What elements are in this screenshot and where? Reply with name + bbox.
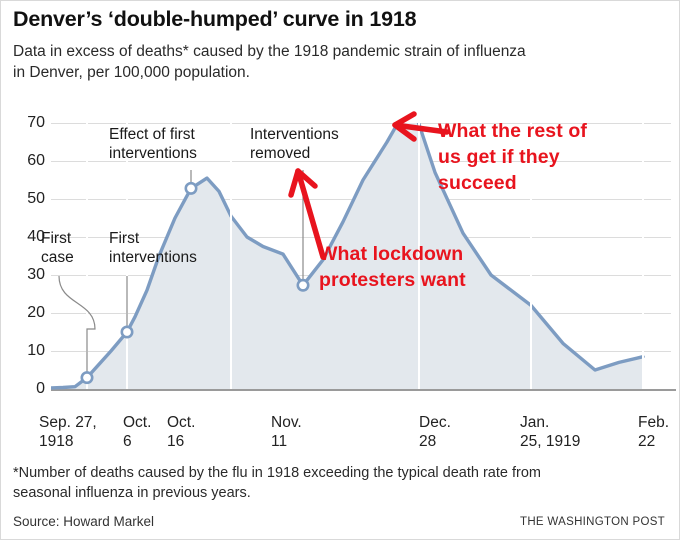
x-tick-label-4: Dec. 28 (419, 413, 467, 451)
data-point-marker (122, 327, 132, 337)
y-tick-20: 20 (11, 305, 45, 321)
y-axis-labels: 70 60 50 40 30 20 10 0 (5, 123, 45, 408)
y-tick-0: 0 (11, 381, 45, 397)
x-tick-label-5: Jan. 25, 1919 (520, 413, 610, 451)
x-tick-label-3: Nov. 11 (271, 413, 315, 451)
y-tick-60: 60 (11, 153, 45, 169)
x-axis-labels: Sep. 27, 1918 Oct. 6 Oct. 16 Nov. 11 Dec… (1, 413, 679, 459)
y-tick-40: 40 (11, 229, 45, 245)
callout-effect-of-first-interventions: Effect of first interventions (109, 125, 269, 163)
x-tick-label-2: Oct. 16 (167, 413, 211, 451)
x-tick-label-6: Feb. 22 (638, 413, 680, 451)
annotation-valley-text: What lockdown protesters want (319, 241, 589, 293)
annotation-valley-arrow (285, 153, 345, 263)
annotation-peak-text: What the rest of us get if they succeed (438, 118, 680, 196)
data-point-marker (82, 372, 92, 382)
source-credit: Source: Howard Markel (13, 514, 154, 529)
footnote: *Number of deaths caused by the flu in 1… (13, 463, 573, 503)
infographic-root: Denver’s ‘double-humped’ curve in 1918 D… (1, 1, 679, 539)
x-tick-label-1: Oct. 6 (123, 413, 163, 451)
leader-line-first-case (59, 276, 95, 372)
y-tick-70: 70 (11, 115, 45, 131)
annotation-peak-arrow (381, 109, 451, 149)
callout-first-interventions: First interventions (109, 229, 259, 267)
callout-first-case: First case (41, 229, 111, 267)
page-subtitle: Data in excess of deaths* caused by the … (13, 41, 533, 83)
data-point-marker (298, 280, 308, 290)
y-tick-10: 10 (11, 343, 45, 359)
data-point-marker (186, 183, 196, 193)
publisher-credit: THE WASHINGTON POST (520, 516, 665, 528)
y-tick-50: 50 (11, 191, 45, 207)
page-title: Denver’s ‘double-humped’ curve in 1918 (13, 7, 416, 32)
x-tick-label-0: Sep. 27, 1918 (39, 413, 117, 451)
y-tick-30: 30 (11, 267, 45, 283)
